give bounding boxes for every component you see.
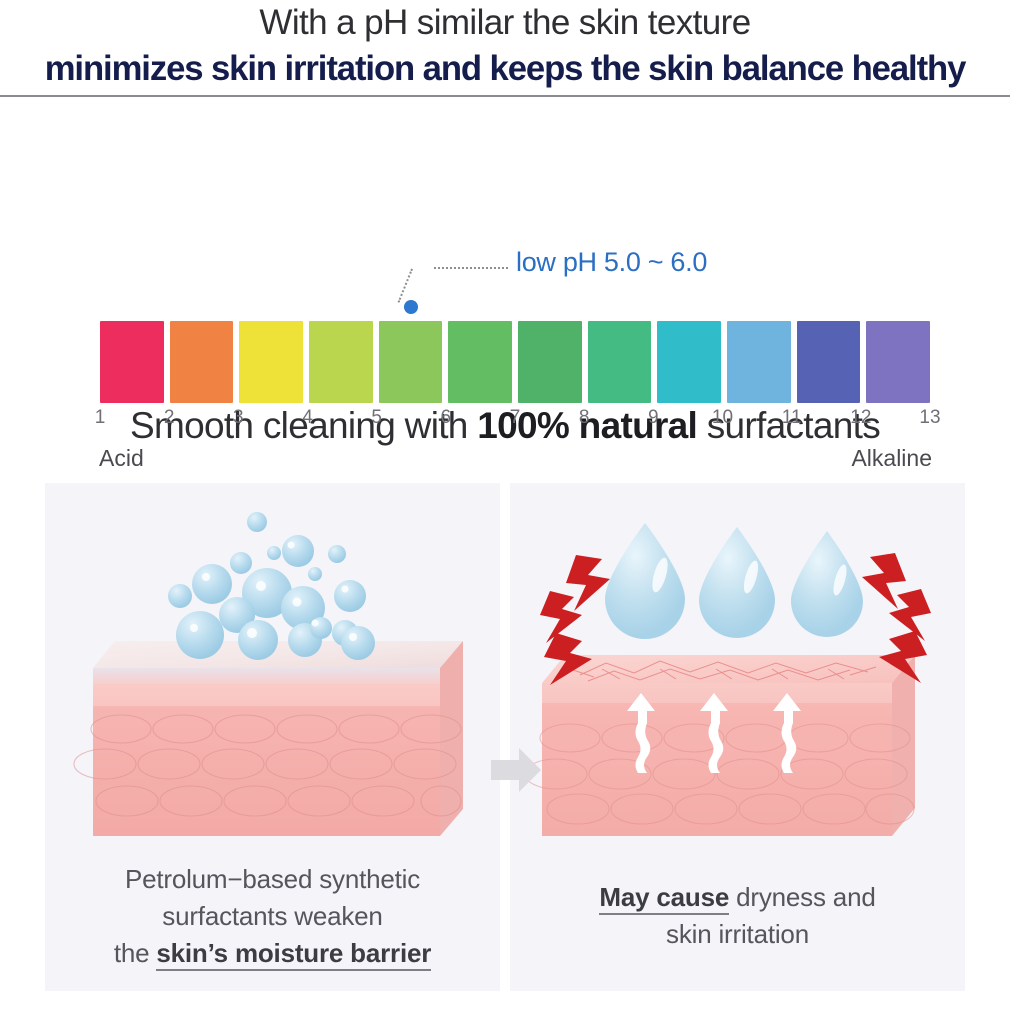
panel-left-foam: Petrolum−based synthetic surfactants wea… — [45, 483, 500, 991]
ph-tick-labels: 12345678910111213 — [90, 407, 940, 433]
panel-right-caption-line-2: skin irritation — [599, 916, 875, 953]
panel-right-caption-line-1-suffix: dryness and — [729, 882, 875, 912]
panel-left-caption-line-3-prefix: the — [114, 938, 157, 968]
headline-line-1: With a pH similar the skin texture — [0, 2, 1010, 44]
ph-swatch-3 — [239, 321, 303, 403]
panel-left-caption: Petrolum−based synthetic surfactants wea… — [100, 861, 445, 972]
panel-right-caption: May cause dryness and skin irritation — [585, 879, 889, 953]
ph-tick-4: 4 — [302, 407, 313, 429]
ph-swatch-6 — [448, 321, 512, 403]
ph-swatch-11 — [797, 321, 861, 403]
ph-swatch-9 — [657, 321, 721, 403]
ph-alkaline-label: Alkaline — [851, 445, 932, 472]
dotted-leader-line-icon — [434, 267, 508, 269]
irritated-skin-cross-section-with-water-drops-icon — [510, 483, 965, 843]
ph-swatch-7 — [518, 321, 582, 403]
ph-skincare-infographic: { "headline": { "line1": "With a pH simi… — [0, 0, 1010, 1024]
ph-tick-7: 7 — [510, 407, 521, 429]
panel-left-caption-line-2: surfactants weaken — [114, 898, 431, 935]
headline-block: With a pH similar the skin texture minim… — [0, 0, 1010, 97]
panel-left-caption-line-3: the skin’s moisture barrier — [114, 935, 431, 972]
headline-line-2-wrapper: minimizes skin irritation and keeps the … — [0, 48, 1010, 97]
panel-right-caption-emphasis: May cause — [599, 882, 729, 915]
ph-tick-13: 13 — [919, 407, 940, 429]
ph-marker-dot-icon — [404, 300, 418, 314]
ph-color-strip — [100, 321, 930, 403]
ph-tick-12: 12 — [850, 407, 871, 429]
ph-callout-label: low pH 5.0 ~ 6.0 — [516, 247, 707, 278]
ph-acid-label: Acid — [99, 445, 144, 472]
ph-swatch-8 — [588, 321, 652, 403]
ph-swatch-10 — [727, 321, 791, 403]
ph-tick-10: 10 — [712, 407, 733, 429]
ph-tick-5: 5 — [371, 407, 382, 429]
ph-swatch-12 — [866, 321, 930, 403]
headline-line-2: minimizes skin irritation and keeps the … — [5, 48, 1005, 90]
ph-tick-1: 1 — [95, 407, 106, 429]
ph-swatch-2 — [170, 321, 234, 403]
ph-swatch-4 — [309, 321, 373, 403]
skin-cross-section-with-foam-bubbles-icon — [45, 483, 500, 843]
ph-tick-11: 11 — [782, 407, 802, 429]
ph-tick-2: 2 — [164, 407, 175, 429]
panel-right-irritation: May cause dryness and skin irritation — [510, 483, 965, 991]
panel-left-caption-line-1: Petrolum−based synthetic — [114, 861, 431, 898]
right-arrow-icon — [489, 745, 543, 795]
panel-left-caption-emphasis: skin’s moisture barrier — [156, 938, 431, 971]
dotted-leader-diagonal-icon — [398, 269, 413, 303]
ph-scale-section: low pH 5.0 ~ 6.0 12345678910111213 Acid … — [0, 97, 1010, 397]
ph-swatch-1 — [100, 321, 164, 403]
ph-tick-6: 6 — [441, 407, 452, 429]
ph-tick-9: 9 — [648, 407, 659, 429]
ph-swatch-5 — [379, 321, 443, 403]
panel-right-caption-line-1: May cause dryness and — [599, 879, 875, 916]
comparison-panels: Petrolum−based synthetic surfactants wea… — [0, 483, 1010, 993]
ph-tick-3: 3 — [233, 407, 244, 429]
ph-tick-8: 8 — [579, 407, 590, 429]
